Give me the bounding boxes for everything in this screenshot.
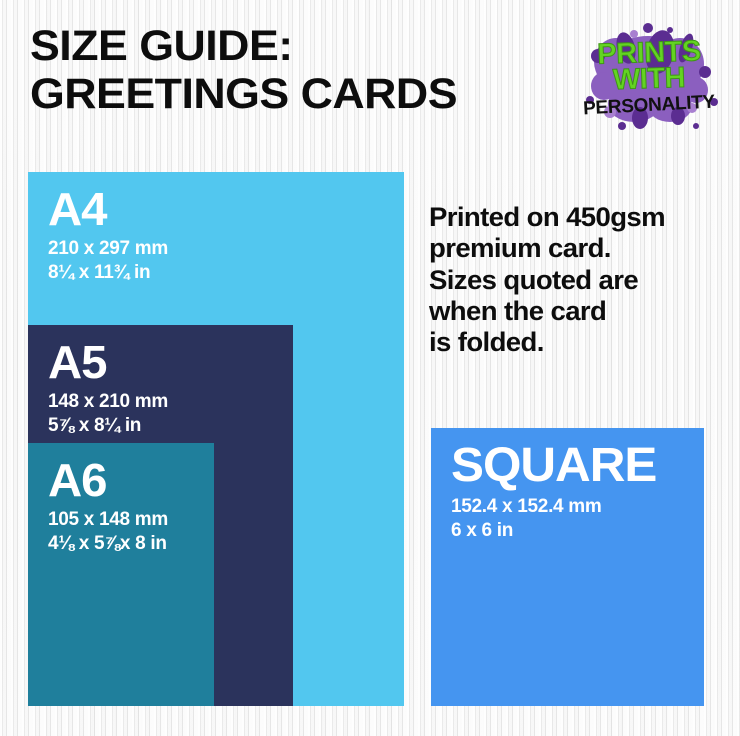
- size-card-square-mm: 152.4 x 152.4 mm: [451, 495, 650, 519]
- size-card-a4-name: A4: [48, 186, 172, 232]
- size-card-a6-in: 4⅛ x 5⅞x 8 in: [48, 532, 168, 556]
- page-title-line-1: SIZE GUIDE:: [30, 22, 571, 70]
- page-title: SIZE GUIDE: GREETINGS CARDS: [30, 22, 571, 118]
- print-spec-note-line-4: when the card: [429, 296, 725, 327]
- size-card-square: SQUARE 152.4 x 152.4 mm 6 x 6 in: [431, 428, 704, 706]
- size-card-a5-label: A5 148 x 210 mm 5⅞ x 8¼ in: [48, 339, 168, 438]
- size-guide-poster: SIZE GUIDE: GREETINGS CARDS: [0, 0, 740, 736]
- size-card-a4-label: A4 210 x 297 mm 8¼ x 11¾ in: [48, 186, 168, 285]
- size-card-a6-mm: 105 x 148 mm: [48, 508, 168, 532]
- size-card-a4-mm: 210 x 297 mm: [48, 237, 168, 261]
- print-spec-note-line-1: Printed on 450gsm: [429, 202, 725, 233]
- size-card-a5-in: 5⅞ x 8¼ in: [48, 414, 168, 438]
- size-card-a4-in: 8¼ x 11¾ in: [48, 261, 168, 285]
- page-title-line-2: GREETINGS CARDS: [30, 70, 571, 118]
- size-card-a6: A6 105 x 148 mm 4⅛ x 5⅞x 8 in: [28, 443, 214, 706]
- print-spec-note: Printed on 450gsm premium card. Sizes qu…: [429, 202, 725, 359]
- size-card-a6-label: A6 105 x 148 mm 4⅛ x 5⅞x 8 in: [48, 457, 168, 556]
- brand-logo: PRINTS WITH PERSONALITY: [574, 12, 724, 134]
- size-card-square-label: SQUARE 152.4 x 152.4 mm 6 x 6 in: [451, 442, 650, 543]
- size-card-square-in: 6 x 6 in: [451, 519, 650, 543]
- size-card-square-name: SQUARE: [451, 442, 656, 490]
- print-spec-note-line-2: premium card.: [429, 233, 725, 264]
- print-spec-note-line-5: is folded.: [429, 327, 725, 358]
- logo-line-personality: PERSONALITY: [574, 92, 725, 119]
- logo-line-with: WITH: [574, 63, 725, 95]
- size-card-a6-name: A6: [48, 457, 172, 503]
- size-card-a5-mm: 148 x 210 mm: [48, 390, 168, 414]
- size-card-a5-name: A5: [48, 339, 172, 385]
- print-spec-note-line-3: Sizes quoted are: [429, 265, 725, 296]
